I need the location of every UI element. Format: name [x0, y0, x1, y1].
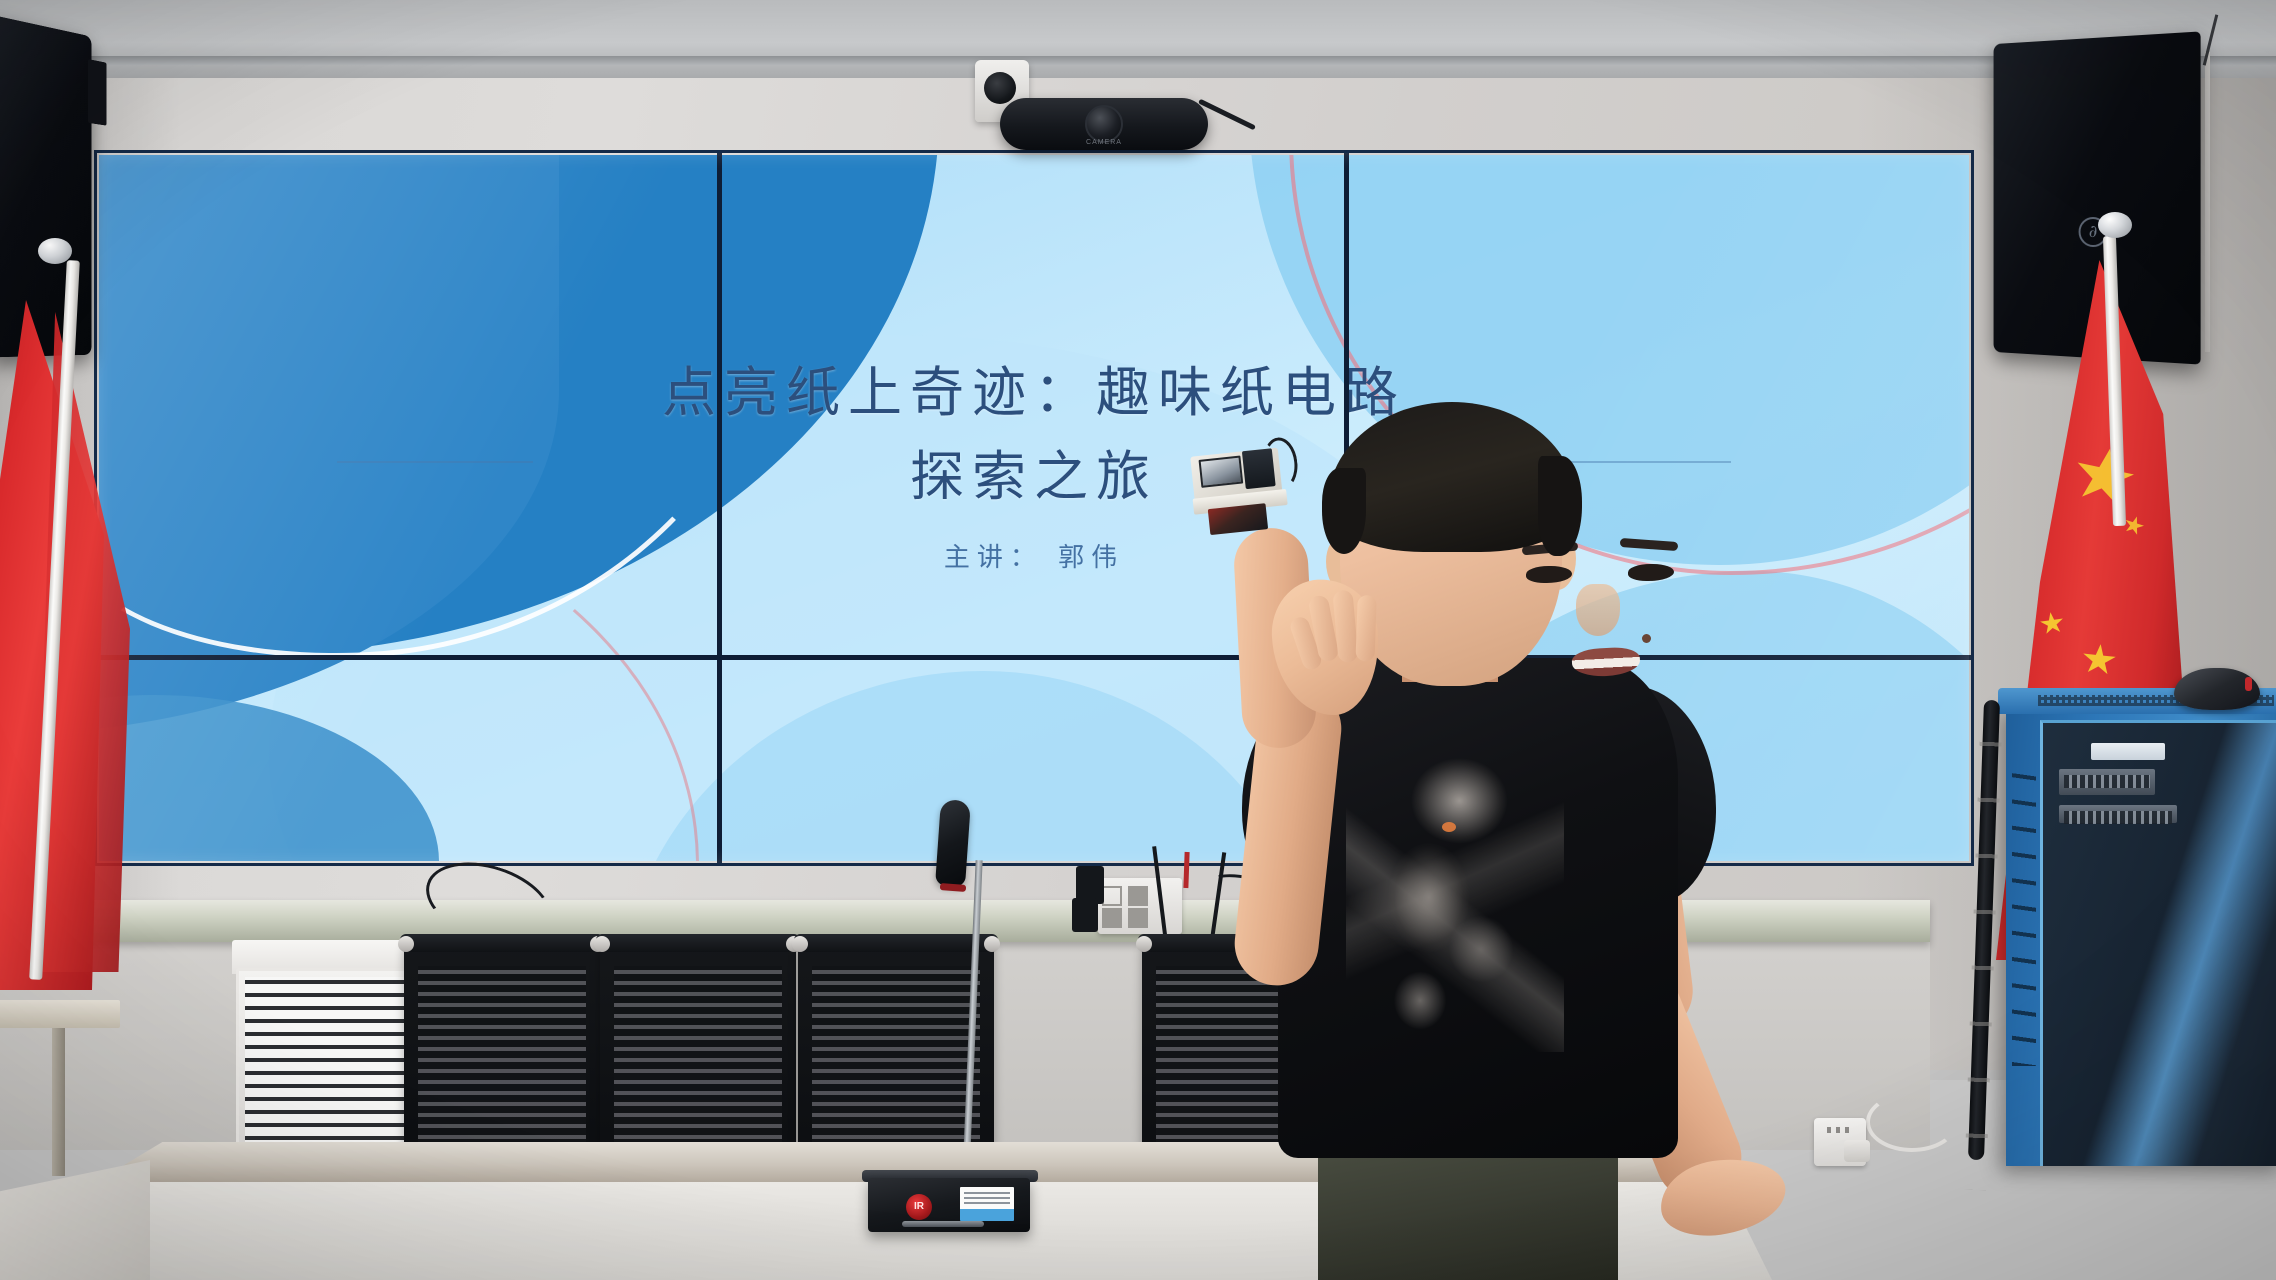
presenter: [1190, 400, 1810, 1280]
power-strip[interactable]: [1098, 878, 1182, 934]
conference-camera-bar: CAMERA: [1000, 98, 1208, 150]
presenter-hair-side-right: [1538, 456, 1582, 556]
device-circuit-board: [1242, 448, 1276, 489]
presenter-forearm-left: [1232, 526, 1317, 750]
chair-top-bar: [596, 934, 800, 952]
ceiling-rail: [0, 56, 2276, 65]
chair-top-bar: [400, 934, 604, 952]
microphone-base-strip: [902, 1221, 984, 1227]
paper-circuit-demo-board[interactable]: [1188, 443, 1288, 538]
wall-socket-plug: [1844, 1140, 1870, 1162]
socket-wire: [1866, 1092, 1958, 1152]
rack-side-vents: [2012, 766, 2036, 1066]
flag-left-finial-icon: [38, 238, 72, 264]
chair-mesh: [418, 966, 586, 1150]
conference-chair[interactable]: [404, 940, 600, 1158]
conference-chair[interactable]: [600, 940, 796, 1158]
side-table: [0, 1000, 120, 1028]
flag-right-finial-icon: [2098, 212, 2132, 238]
presenter-nose: [1576, 584, 1620, 636]
presenter-mole: [1642, 634, 1651, 643]
microphone-ir-indicator: IR: [906, 1194, 932, 1220]
chair-cap-left: [398, 936, 414, 952]
ceiling: [0, 0, 2276, 78]
speaker-bracket-left: [88, 59, 107, 126]
chair-mesh: [614, 966, 782, 1150]
microphone-label-sticker: [960, 1187, 1014, 1221]
rack-patch-panel-2: [2059, 805, 2177, 823]
microphone-capsule: [935, 799, 971, 887]
chair-cap-left: [792, 936, 808, 952]
presenter-eye-right: [1628, 564, 1674, 581]
chair-cap-left: [1136, 936, 1152, 952]
flag-left: [0, 238, 160, 978]
chair-cap-left: [594, 936, 610, 952]
rack-patch-panel-1: [2059, 769, 2155, 795]
device-internals: [1208, 503, 1268, 535]
rack-glass-door[interactable]: [2040, 720, 2276, 1166]
camera-lens-icon: [1085, 105, 1123, 143]
chair-mesh: [812, 966, 980, 1150]
equipment-rack[interactable]: [2006, 706, 2276, 1166]
presenter-finger: [1355, 595, 1376, 662]
presenter-shirt-graphic: [1346, 730, 1564, 1052]
conference-table-left-wing: [0, 1160, 150, 1280]
presenter-eyebrow-right: [1620, 538, 1678, 551]
flag-star-large-icon: [2069, 442, 2140, 511]
camera-brand-label: CAMERA: [1086, 139, 1122, 146]
microphone-base[interactable]: IR: [868, 1178, 1030, 1232]
side-table-leg: [52, 1026, 65, 1176]
chair-top-bar: [794, 934, 998, 952]
power-plug-b: [1072, 898, 1098, 932]
computer-mouse[interactable]: [2174, 668, 2260, 710]
flag-star-small-2-icon: [2080, 642, 2117, 677]
flag-star-small-1-icon: [2039, 610, 2066, 636]
device-oled-display: [1199, 456, 1244, 488]
rack-brand-badge: [2091, 743, 2165, 760]
chair-cap-right: [984, 936, 1000, 952]
room-scene: 点亮纸上奇迹：趣味纸电路 探索之旅 主讲： 郭伟 CAMERA ∂: [0, 0, 2276, 1280]
